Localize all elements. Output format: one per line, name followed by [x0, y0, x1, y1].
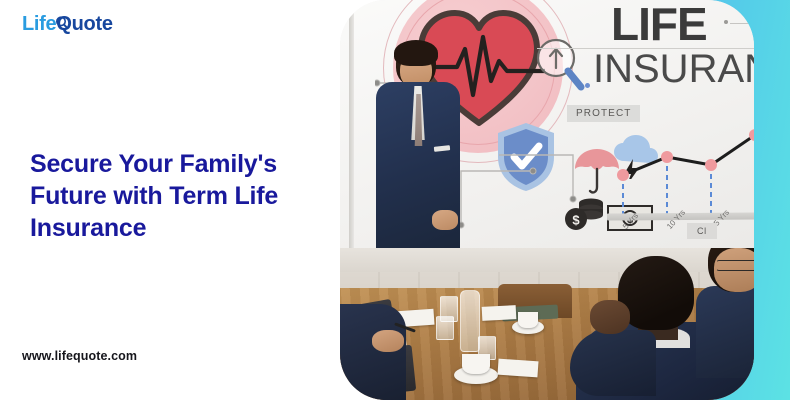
website-url[interactable]: www.lifequote.com: [22, 349, 137, 363]
attendee-right: [698, 248, 754, 374]
attendee-left-hand: [372, 330, 404, 352]
page-title: Secure Your Family's Future with Term Li…: [30, 148, 330, 244]
marketing-banner: LIFE INSURANCE PROTECT: [0, 0, 800, 400]
water-carafe: [460, 290, 480, 352]
attendee-right-glasses: [716, 260, 754, 271]
cl-badge: Cl: [687, 223, 717, 239]
paper-center: [482, 305, 517, 321]
paper-foreground: [497, 359, 538, 378]
magnifier-arrow-icon: [531, 35, 589, 97]
attendee-center-arm: [570, 330, 656, 396]
presenter-hand: [432, 210, 458, 230]
whiteboard-frame: [349, 5, 354, 255]
presenter-person: [376, 42, 460, 262]
whiteboard-title-insurance: INSURANCE: [593, 49, 754, 89]
logo-text-life: Life: [22, 13, 56, 35]
boardroom-scene: [340, 248, 754, 400]
attendee-center-hand: [590, 300, 630, 334]
attendee-left: [340, 304, 406, 400]
coffee-cup-2: [462, 354, 490, 374]
connector-lines: [455, 137, 595, 229]
logo-text-quote: uote: [72, 13, 113, 35]
subtitle-dot: [585, 83, 590, 88]
whiteboard-title-life: LIFE: [611, 1, 707, 47]
title-rule: [730, 23, 754, 24]
coffee-cup-1: [518, 312, 538, 328]
attendee-left-suit: [340, 304, 406, 400]
title-dot: [724, 20, 728, 24]
presenter-hair: [394, 40, 438, 66]
hero-image: LIFE INSURANCE PROTECT: [340, 0, 754, 400]
magnifier-icon: [55, 16, 68, 29]
water-glass-2: [436, 316, 454, 340]
logo[interactable]: LifeQuote: [22, 14, 113, 34]
attendee-right-suit: [696, 286, 754, 378]
